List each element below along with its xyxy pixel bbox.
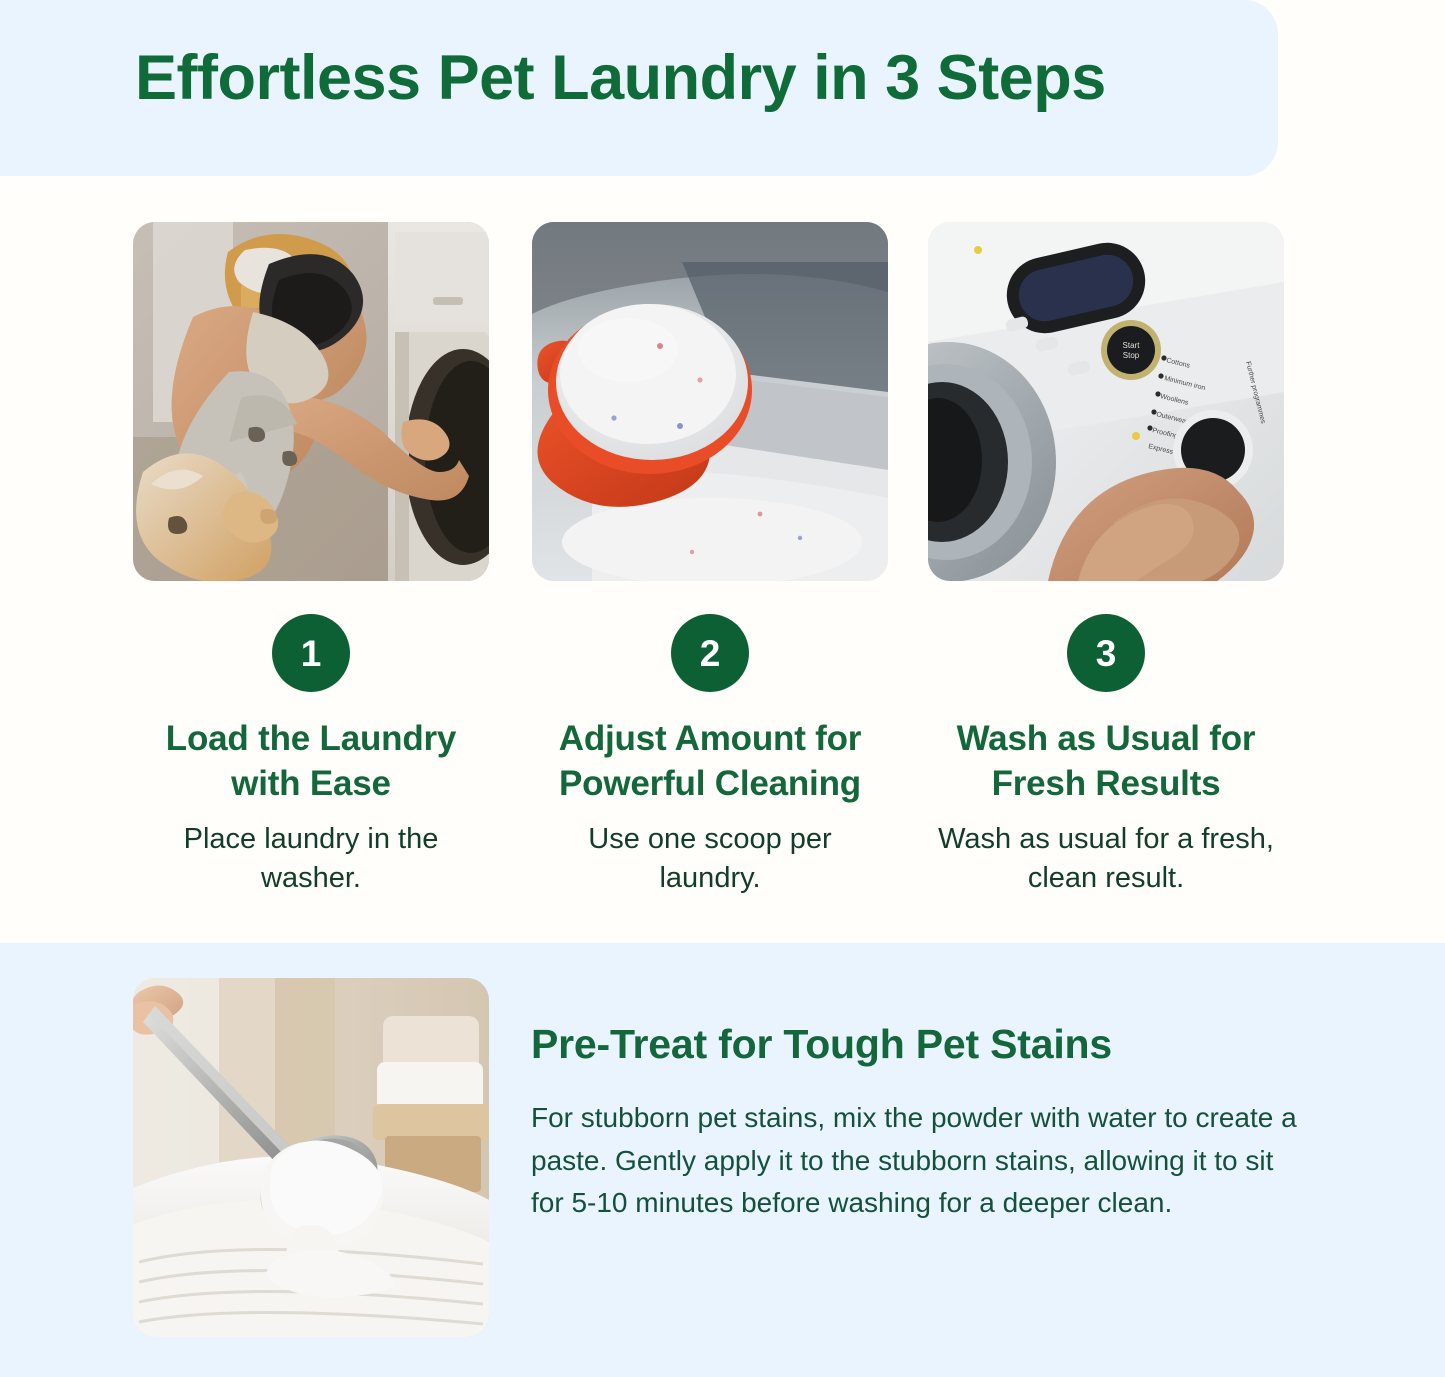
step-1-title: Load the Laundry with Ease <box>141 717 481 807</box>
pre-treat-text-block: Pre-Treat for Tough Pet Stains For stubb… <box>531 1020 1301 1225</box>
step-card-2: 2 Adjust Amount for Powerful Cleaning Us… <box>532 176 888 898</box>
step-1-photo <box>133 222 489 581</box>
header-banner: Effortless Pet Laundry in 3 Steps <box>0 0 1278 176</box>
step-card-3: Start Stop Cottons Minimum iron Woollens… <box>928 176 1284 898</box>
step-1-number-badge: 1 <box>272 614 350 692</box>
infographic-page: Effortless Pet Laundry in 3 Steps <box>0 0 1445 1377</box>
step-2-title: Adjust Amount for Powerful Cleaning <box>540 717 880 807</box>
step-3-number: 3 <box>1096 635 1117 672</box>
step-1-description: Place laundry in the washer. <box>136 820 486 898</box>
pre-treat-body: For stubborn pet stains, mix the powder … <box>531 1097 1301 1225</box>
step-2-number-badge: 2 <box>671 614 749 692</box>
pre-treat-title: Pre-Treat for Tough Pet Stains <box>531 1020 1301 1069</box>
step-3-title: Wash as Usual for Fresh Results <box>936 717 1276 807</box>
pre-treat-panel: Pre-Treat for Tough Pet Stains For stubb… <box>0 943 1445 1377</box>
step-2-number: 2 <box>700 635 721 672</box>
steps-row: 1 Load the Laundry with Ease Place laund… <box>0 176 1445 943</box>
step-1-number: 1 <box>301 635 322 672</box>
step-3-photo: Start Stop Cottons Minimum iron Woollens… <box>928 222 1284 581</box>
step-card-1: 1 Load the Laundry with Ease Place laund… <box>133 176 489 898</box>
step-2-description: Use one scoop per laundry. <box>535 820 885 898</box>
page-title: Effortless Pet Laundry in 3 Steps <box>135 44 1106 113</box>
step-2-photo <box>532 222 888 581</box>
pre-treat-photo <box>133 978 489 1337</box>
step-3-description: Wash as usual for a fresh, clean result. <box>931 820 1281 898</box>
step-3-number-badge: 3 <box>1067 614 1145 692</box>
